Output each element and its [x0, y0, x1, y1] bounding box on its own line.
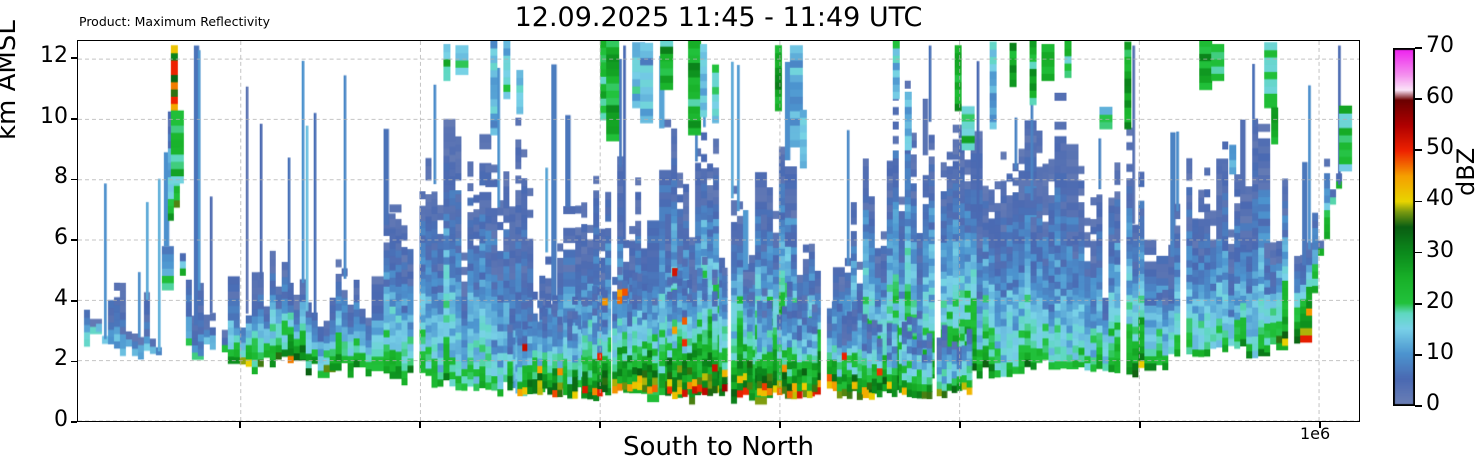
colorbar-tick-label: 40 — [1426, 186, 1454, 211]
y-tick-label: 6 — [20, 225, 68, 250]
colorbar-tick-mark — [1415, 405, 1422, 407]
y-tick-label: 2 — [20, 346, 68, 371]
y-tick-label: 10 — [20, 104, 68, 129]
x-axis-offset-text: 1e6 — [1300, 424, 1330, 443]
x-tick-mark — [419, 422, 421, 428]
colorbar-gradient — [1393, 48, 1415, 406]
y-tick-label: 12 — [20, 43, 68, 68]
x-tick-mark — [959, 422, 961, 428]
colorbar-tick-mark — [1415, 47, 1422, 49]
x-tick-mark — [239, 422, 241, 428]
colorbar-tick-label: 50 — [1426, 135, 1454, 160]
x-tick-mark — [599, 422, 601, 428]
colorbar-tick-label: 0 — [1426, 391, 1440, 416]
y-tick-label: 0 — [20, 407, 68, 432]
colorbar-tick-label: 70 — [1426, 33, 1454, 58]
colorbar-tick-mark — [1415, 354, 1422, 356]
x-tick-mark — [779, 422, 781, 428]
colorbar — [1393, 48, 1415, 406]
colorbar-label: dBZ — [1452, 148, 1480, 196]
colorbar-tick-label: 20 — [1426, 289, 1454, 314]
colorbar-tick-mark — [1415, 98, 1422, 100]
colorbar-tick-mark — [1415, 201, 1422, 203]
x-tick-mark — [1139, 422, 1141, 428]
y-axis-label: km AMSL — [0, 20, 22, 140]
plot-area — [77, 40, 1360, 422]
y-tick-label: 8 — [20, 164, 68, 189]
colorbar-tick-label: 10 — [1426, 340, 1454, 365]
radar-cross-section-figure: 12.09.2025 11:45 - 11:49 UTC Product: Ma… — [0, 0, 1482, 470]
colorbar-tick-mark — [1415, 303, 1422, 305]
x-axis-label: South to North — [77, 432, 1360, 462]
y-tick-label: 4 — [20, 286, 68, 311]
colorbar-tick-mark — [1415, 149, 1422, 151]
reflectivity-heatmap — [78, 41, 1359, 421]
colorbar-tick-label: 60 — [1426, 84, 1454, 109]
colorbar-tick-mark — [1415, 252, 1422, 254]
colorbar-tick-label: 30 — [1426, 238, 1454, 263]
product-annotation: Product: Maximum Reflectivity — [79, 14, 270, 29]
